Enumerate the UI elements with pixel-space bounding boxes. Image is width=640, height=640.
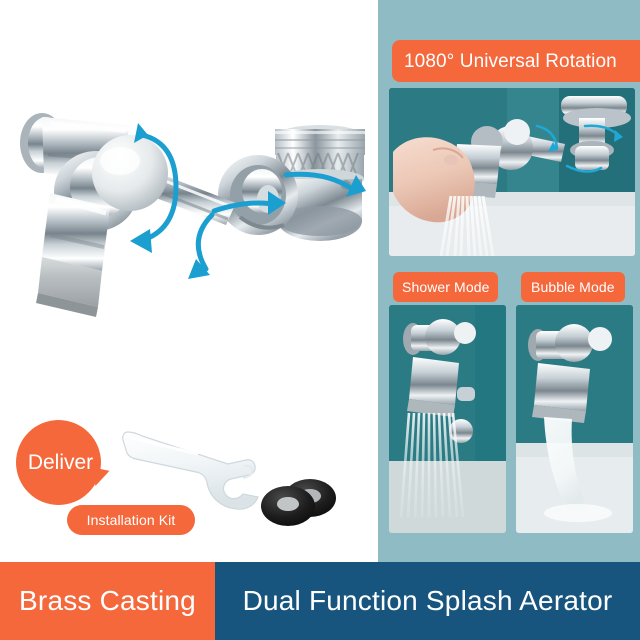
photo-universal-rotation — [389, 88, 635, 256]
bubble-mode-label: Bubble Mode — [531, 280, 615, 294]
hero-product-illustration — [0, 95, 378, 325]
photo-main-scene — [389, 88, 635, 256]
banner-right-label: Dual Function Splash Aerator — [243, 585, 613, 617]
installation-kit-badge: Installation Kit — [67, 505, 195, 535]
rubber-washer-pair — [261, 479, 336, 526]
photo-bubble-mode — [516, 305, 633, 533]
faucet-aerator-graphic — [0, 95, 378, 325]
bottom-banner: Brass Casting Dual Function Splash Aerat… — [0, 562, 640, 640]
rotation-badge: 1080° Universal Rotation — [392, 40, 640, 82]
shower-mode-badge: Shower Mode — [393, 272, 498, 302]
rotation-badge-label: 1080° Universal Rotation — [404, 52, 617, 71]
photo-shower-mode — [389, 305, 506, 533]
bubble-mode-badge: Bubble Mode — [521, 272, 625, 302]
photo-bubble-scene — [516, 305, 633, 533]
aerator-head — [36, 193, 110, 317]
banner-product-name: Dual Function Splash Aerator — [215, 562, 640, 640]
plastic-wrench — [123, 432, 258, 509]
ball-joint-mid — [218, 155, 298, 235]
banner-left-label: Brass Casting — [19, 585, 196, 617]
banner-brass-casting: Brass Casting — [0, 562, 215, 640]
installation-kit-label: Installation Kit — [87, 513, 176, 527]
photo-shower-scene — [389, 305, 506, 533]
deliver-badge: Deliver — [16, 420, 101, 505]
deliver-label: Deliver — [28, 451, 93, 475]
product-listing-image: Deliver Installation Kit — [0, 0, 640, 640]
shower-mode-label: Shower Mode — [402, 280, 489, 294]
